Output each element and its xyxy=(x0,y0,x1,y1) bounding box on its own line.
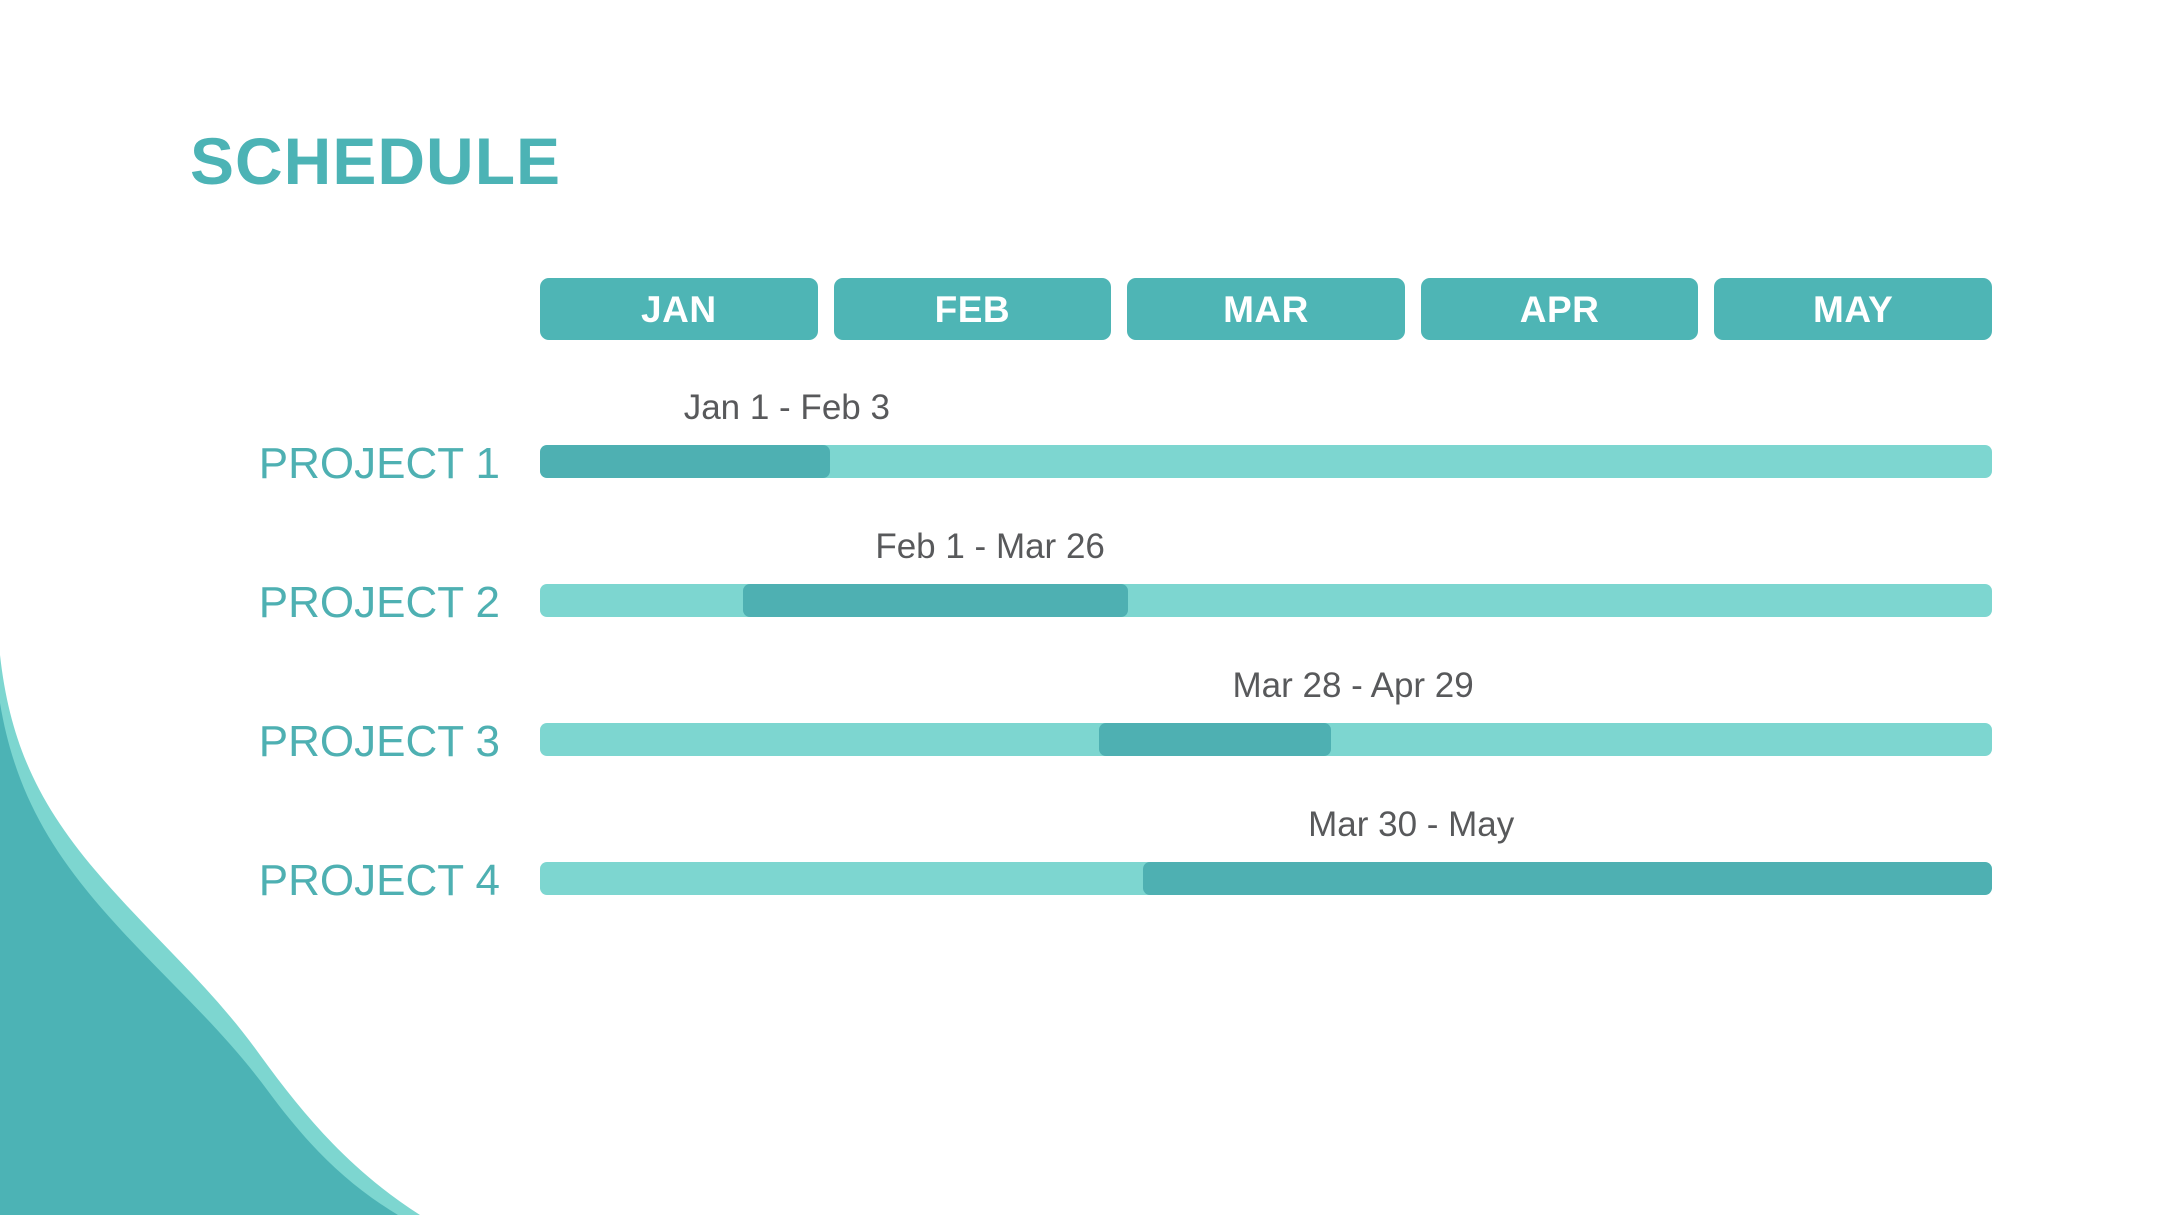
project-label: PROJECT 4 xyxy=(0,859,500,903)
gantt-row: PROJECT 1 Jan 1 - Feb 3 xyxy=(0,390,2160,529)
gantt-track[interactable] xyxy=(540,862,1992,895)
month-pill-label: APR xyxy=(1520,291,1600,328)
date-range-label: Feb 1 - Mar 26 xyxy=(875,529,1105,564)
gantt-track[interactable] xyxy=(540,445,1992,478)
schedule-slide: SCHEDULE JAN FEB MAR APR MAY PROJECT 1 J… xyxy=(0,0,2160,1215)
gantt-bar-fill[interactable] xyxy=(540,445,830,478)
gantt-bar-fill[interactable] xyxy=(1143,862,1992,895)
gantt-bar-fill[interactable] xyxy=(1099,723,1331,756)
month-pill-label: JAN xyxy=(641,291,717,328)
month-pill-mar[interactable]: MAR xyxy=(1127,278,1405,340)
month-pill-may[interactable]: MAY xyxy=(1714,278,1992,340)
gantt-track[interactable] xyxy=(540,584,1992,617)
project-label: PROJECT 1 xyxy=(0,442,500,486)
month-pill-feb[interactable]: FEB xyxy=(834,278,1112,340)
month-pill-label: MAR xyxy=(1223,291,1309,328)
month-pill-jan[interactable]: JAN xyxy=(540,278,818,340)
month-pill-label: MAY xyxy=(1813,291,1893,328)
project-rows: PROJECT 1 Jan 1 - Feb 3 PROJECT 2 Feb 1 … xyxy=(0,390,2160,946)
gantt-track[interactable] xyxy=(540,723,1992,756)
date-range-label: Jan 1 - Feb 3 xyxy=(684,390,890,425)
gantt-row: PROJECT 2 Feb 1 - Mar 26 xyxy=(0,529,2160,668)
project-label: PROJECT 2 xyxy=(0,581,500,625)
gantt-row: PROJECT 4 Mar 30 - May xyxy=(0,807,2160,946)
month-header-strip: JAN FEB MAR APR MAY xyxy=(540,278,1992,340)
date-range-label: Mar 28 - Apr 29 xyxy=(1232,668,1473,703)
gantt-row: PROJECT 3 Mar 28 - Apr 29 xyxy=(0,668,2160,807)
date-range-label: Mar 30 - May xyxy=(1308,807,1514,842)
month-pill-label: FEB xyxy=(935,291,1011,328)
page-title: SCHEDULE xyxy=(190,128,561,194)
gantt-bar-fill[interactable] xyxy=(743,584,1128,617)
project-label: PROJECT 3 xyxy=(0,720,500,764)
month-pill-apr[interactable]: APR xyxy=(1421,278,1699,340)
